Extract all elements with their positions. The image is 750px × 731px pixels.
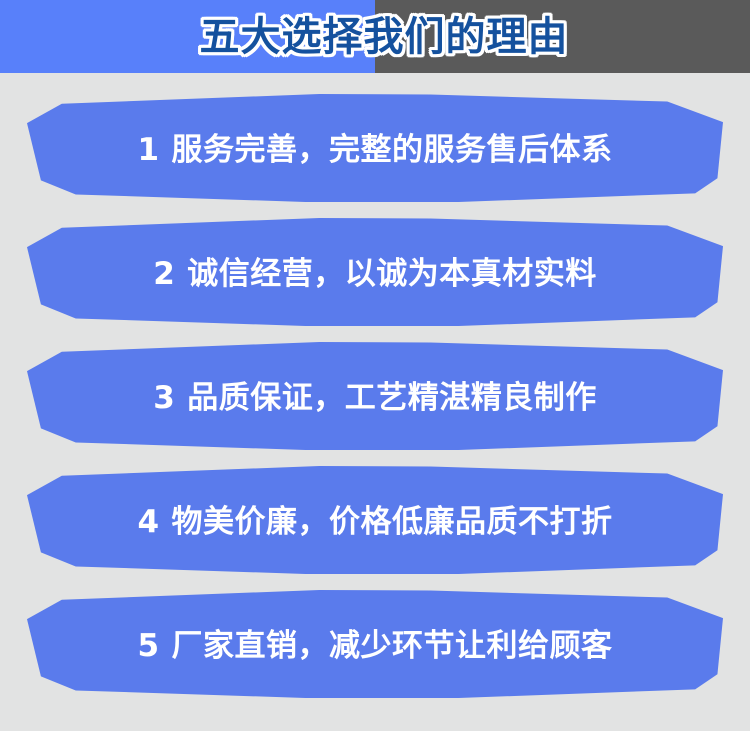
banner-text-1: 1 服务完善，完整的服务售后体系 bbox=[27, 94, 723, 202]
reason-banner-5[interactable]: 5 厂家直销，减少环节让利给顾客 bbox=[27, 590, 723, 698]
reason-label-4: 物美价廉，价格低廉品质不打折 bbox=[172, 507, 613, 538]
reason-number-4: 4 bbox=[137, 507, 159, 538]
reason-banner-4[interactable]: 4 物美价廉，价格低廉品质不打折 bbox=[27, 466, 723, 574]
page-header: 五大选择我们的理由 bbox=[0, 0, 750, 73]
reason-number-5: 5 bbox=[137, 631, 159, 662]
reason-label-5: 厂家直销，减少环节让利给顾客 bbox=[172, 631, 613, 662]
promo-page: 五大选择我们的理由 1 服务完善，完整的服务售后体系 2 诚信经营，以诚为本真材… bbox=[0, 0, 750, 731]
reason-label-3: 品质保证，工艺精湛精良制作 bbox=[187, 383, 597, 414]
reason-label-1: 服务完善，完整的服务售后体系 bbox=[172, 135, 613, 166]
reason-number-2: 2 bbox=[153, 259, 175, 290]
reason-banner-1[interactable]: 1 服务完善，完整的服务售后体系 bbox=[27, 94, 723, 202]
reason-number-3: 3 bbox=[153, 383, 175, 414]
banner-text-5: 5 厂家直销，减少环节让利给顾客 bbox=[27, 590, 723, 698]
reason-number-1: 1 bbox=[137, 135, 159, 166]
reason-banner-2[interactable]: 2 诚信经营，以诚为本真材实料 bbox=[27, 218, 723, 326]
reason-label-2: 诚信经营，以诚为本真材实料 bbox=[187, 259, 597, 290]
banner-text-3: 3 品质保证，工艺精湛精良制作 bbox=[27, 342, 723, 450]
page-title: 五大选择我们的理由 bbox=[0, 0, 750, 73]
banner-text-2: 2 诚信经营，以诚为本真材实料 bbox=[27, 218, 723, 326]
reasons-list: 1 服务完善，完整的服务售后体系 2 诚信经营，以诚为本真材实料 3 品质保证，… bbox=[0, 73, 750, 731]
banner-text-4: 4 物美价廉，价格低廉品质不打折 bbox=[27, 466, 723, 574]
reason-banner-3[interactable]: 3 品质保证，工艺精湛精良制作 bbox=[27, 342, 723, 450]
